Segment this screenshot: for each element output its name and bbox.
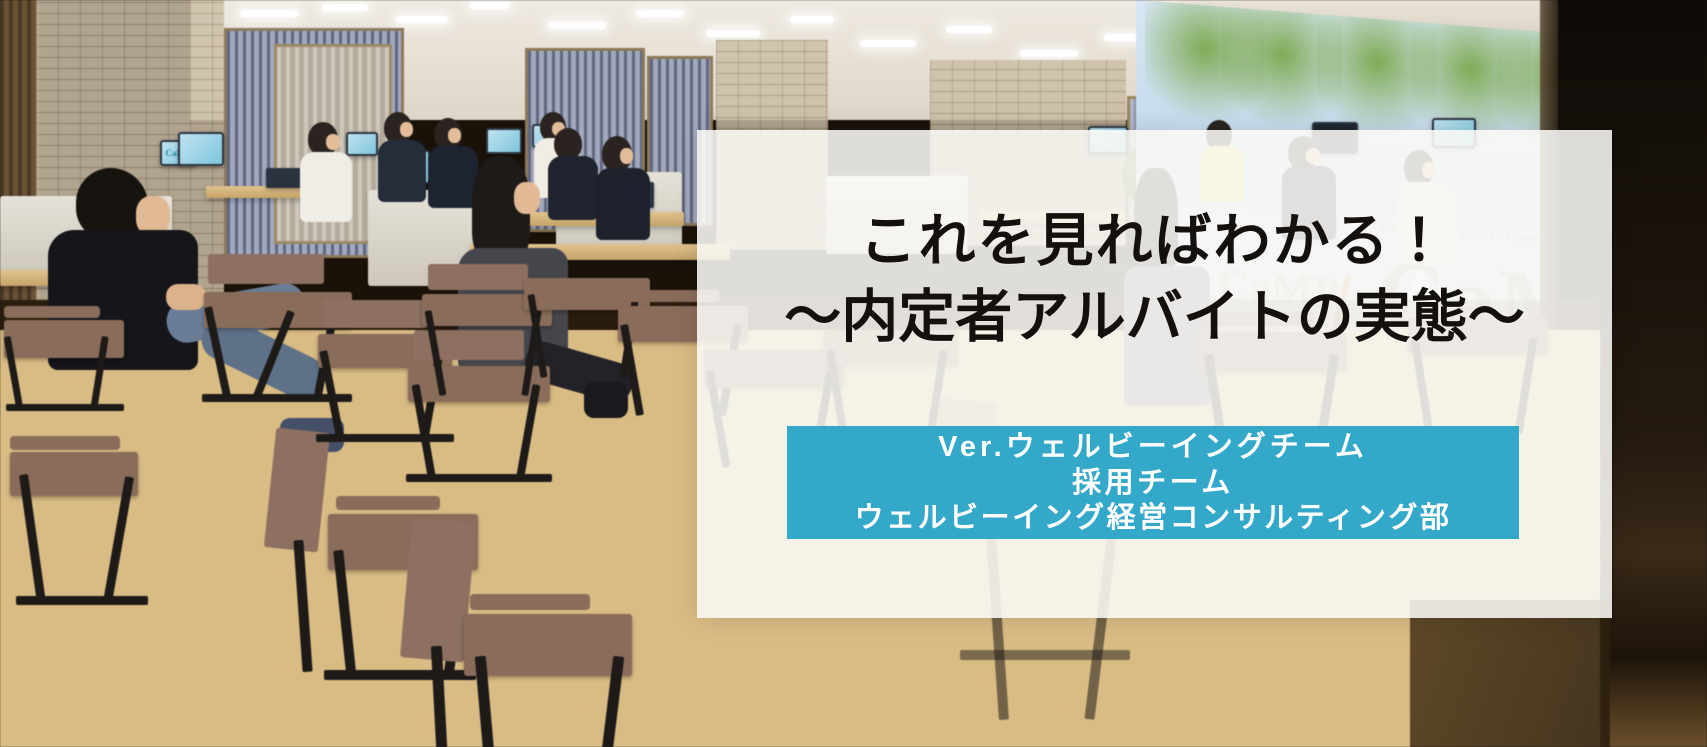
- ceiling-light: [548, 22, 606, 29]
- floor-dark-area: [1410, 600, 1610, 747]
- ceiling-light: [946, 26, 992, 33]
- monitor: [178, 132, 224, 166]
- monitor: [346, 132, 378, 156]
- ceiling-light: [706, 30, 760, 37]
- recruitment-banner: CaMP Camp, Mix, Build, Power CaMP Collab…: [0, 0, 1707, 747]
- ceiling-light: [790, 16, 834, 23]
- ceiling-light: [1020, 50, 1078, 57]
- headline-line-1: これを見ればわかる！: [697, 204, 1612, 280]
- ceiling-light: [396, 16, 448, 23]
- camp-chair: [10, 420, 240, 620]
- headline-line-2: 〜内定者アルバイトの実態〜: [697, 280, 1612, 356]
- ceiling-light: [470, 2, 510, 9]
- camp-chair: [360, 520, 640, 747]
- caption-line-2: 採用チーム: [1072, 466, 1234, 502]
- ceiling-light: [860, 40, 916, 47]
- caption-box: Ver.ウェルビーイングチーム 採用チーム ウェルビーイング経営コンサルティング…: [787, 426, 1519, 539]
- caption-line-3: ウェルビーイング経営コンサルティング部: [855, 501, 1452, 537]
- camp-chair: [0, 292, 170, 412]
- ceiling-light: [636, 10, 684, 17]
- ceiling-light: [240, 10, 298, 17]
- monitor: [486, 128, 522, 154]
- content-overlay-panel: これを見ればわかる！ 〜内定者アルバイトの実態〜 Ver.ウェルビーイングチーム…: [697, 130, 1612, 618]
- ceiling-light: [322, 4, 368, 11]
- headline: これを見ればわかる！ 〜内定者アルバイトの実態〜: [697, 204, 1612, 356]
- caption-line-1: Ver.ウェルビーイングチーム: [938, 430, 1368, 466]
